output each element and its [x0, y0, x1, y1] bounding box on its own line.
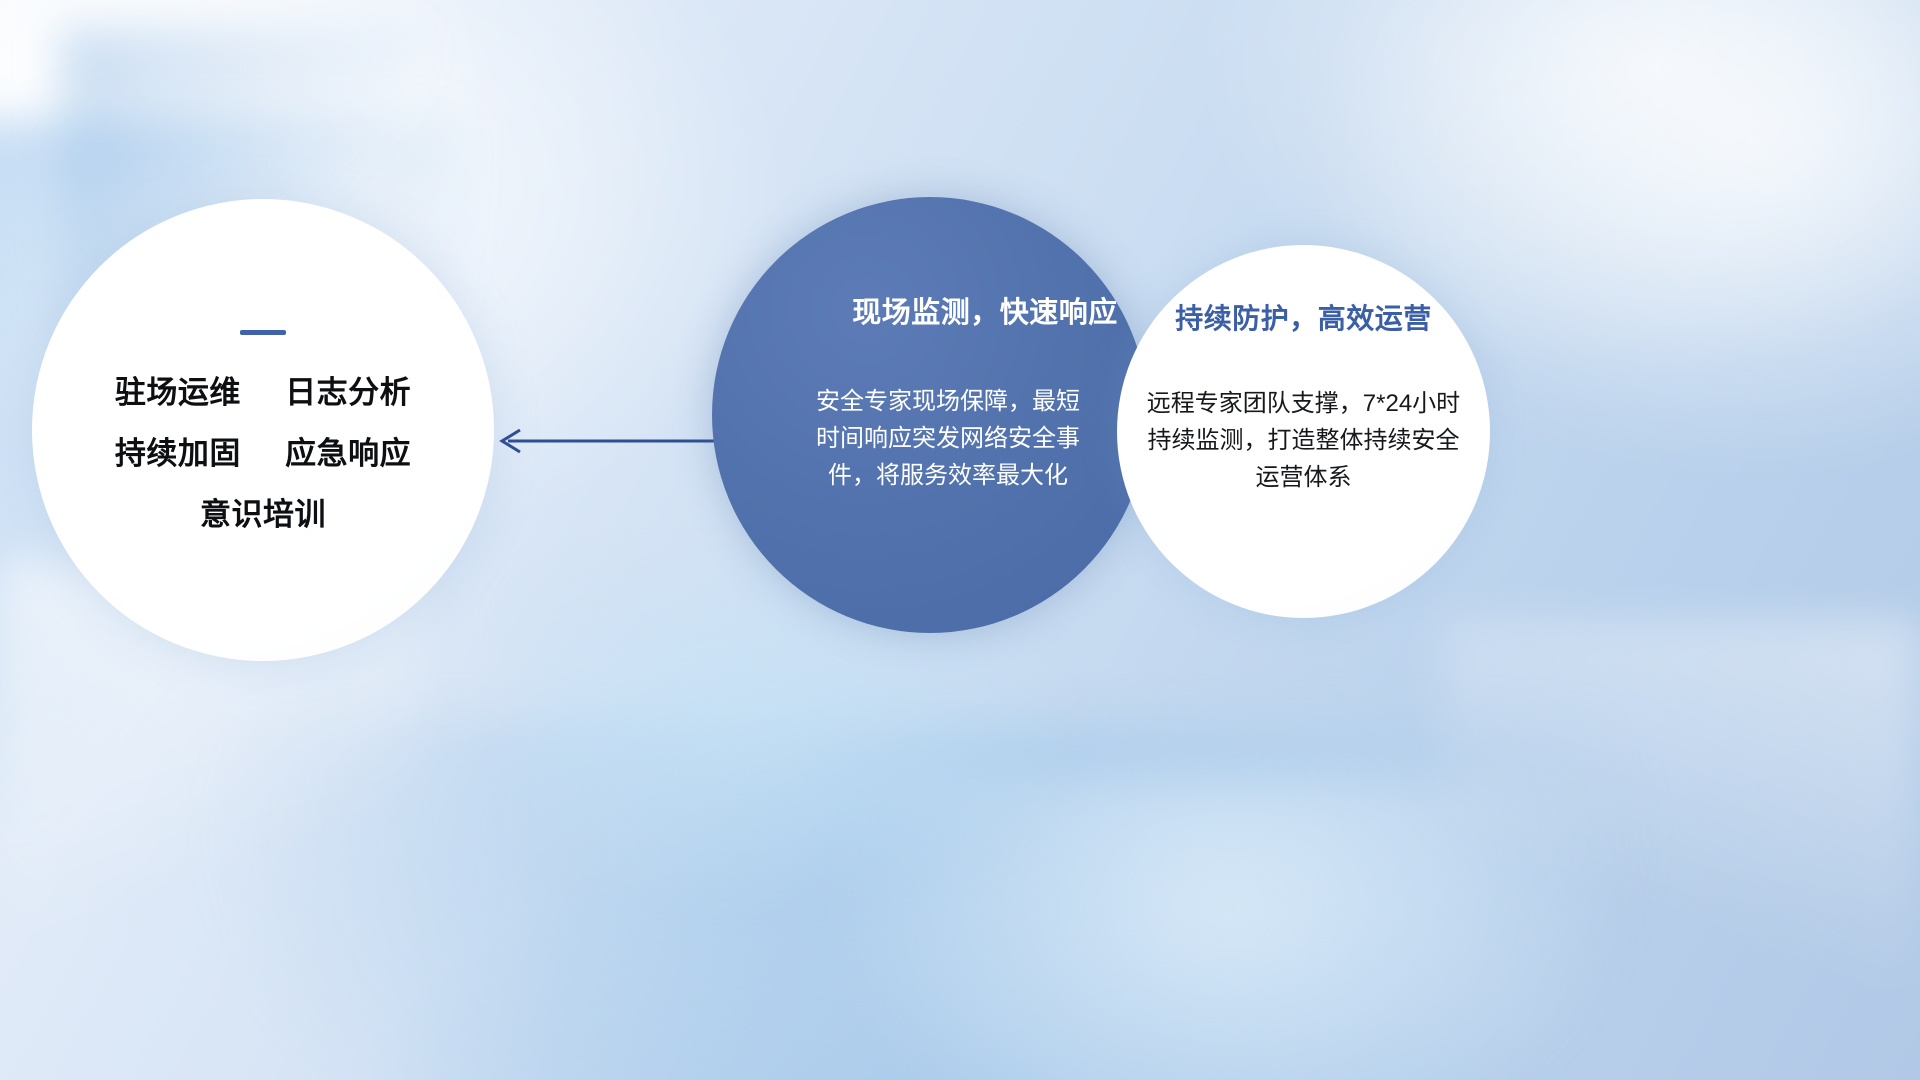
capability-circle-left[interactable]: 驻场运维 日志分析 持续加固 应急响应 意识培训 [32, 199, 494, 661]
capability-circle-right[interactable]: 持续防护，高效运营 远程专家团队支撑，7*24小时持续监测，打造整体持续安全运营… [1117, 245, 1490, 618]
capability-tag-awareness-training: 意识培训 [200, 497, 326, 532]
background-streak [820, 780, 1640, 1080]
background-streak [180, 720, 1680, 1080]
right-circle-body: 远程专家团队支撑，7*24小时持续监测，打造整体持续安全运营体系 [1139, 385, 1469, 497]
capability-row-1: 驻场运维 日志分析 [115, 377, 411, 408]
flow-arrow-icon [492, 424, 732, 458]
capability-row-2: 持续加固 应急响应 [115, 438, 411, 469]
capability-row-3: 意识培训 [200, 499, 326, 530]
right-circle-title: 持续防护，高效运营 [1175, 297, 1432, 337]
slide-background: 驻场运维 日志分析 持续加固 应急响应 意识培训 现场监测，快速响应 安全专家现… [0, 0, 1920, 1080]
capability-circle-middle[interactable]: 现场监测，快速响应 安全专家现场保障，最短时间响应突发网络安全事件，将服务效率最… [712, 197, 1148, 633]
capability-tag-log-analysis: 日志分析 [285, 375, 411, 410]
capability-tag-emergency-response: 应急响应 [285, 436, 411, 471]
capability-tag-onsite-ops: 驻场运维 [115, 375, 241, 410]
middle-circle-title: 现场监测，快速响应 [852, 289, 1118, 331]
middle-circle-body: 安全专家现场保障，最短时间响应突发网络安全事件，将服务效率最大化 [812, 383, 1084, 495]
capability-tag-hardening: 持续加固 [115, 436, 241, 471]
divider-line [240, 330, 286, 335]
background-streak [1440, 620, 1920, 1080]
